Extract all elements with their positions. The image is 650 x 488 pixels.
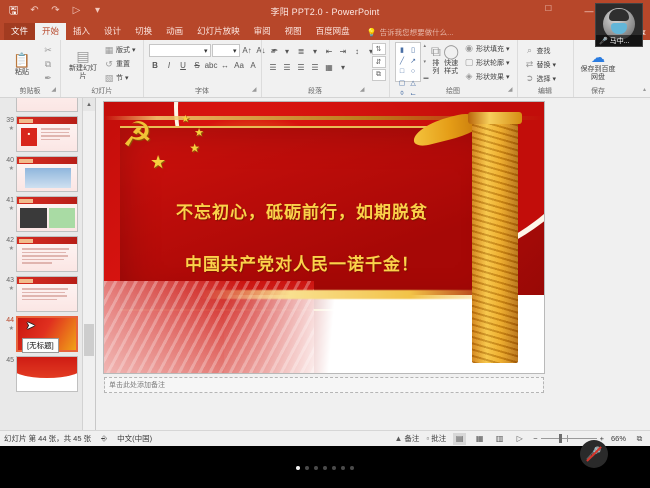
party-emblem-icon: ☭ ★ ★ ★ ★ xyxy=(122,112,218,178)
slide-subtitle-text[interactable]: 中国共产党对人民一诺千金！ xyxy=(144,250,460,275)
slide-counter: 幻灯片 第 44 张，共 45 张 xyxy=(4,433,91,444)
quick-access-toolbar: 🖫 ↶ ↷ ▷ ▾ xyxy=(0,4,105,19)
mouse-cursor-icon: ➤ xyxy=(26,319,35,332)
replace-icon: ⇄ xyxy=(525,59,535,70)
thumbnail-38[interactable] xyxy=(16,98,78,112)
zoom-out-button[interactable]: − xyxy=(533,434,537,443)
cut-button[interactable]: ✂ xyxy=(41,44,55,57)
hair-shape xyxy=(609,9,629,21)
star-icon: ★ xyxy=(194,126,204,139)
font-dialog-launcher[interactable]: ◢ xyxy=(252,85,257,96)
quick-styles-label: 快速样式 xyxy=(443,60,459,76)
font-name-input[interactable]: ▾ xyxy=(149,44,211,57)
layout-button[interactable]: ▦ 版式▾ xyxy=(102,44,138,57)
participant-name: 马中... xyxy=(610,36,630,46)
thumbnail-41[interactable] xyxy=(16,196,78,232)
bold-button[interactable]: B xyxy=(149,59,162,72)
slide-title-text[interactable]: 不忘初心，砥砺前行，如期脱贫 xyxy=(144,198,460,223)
tab-animations[interactable]: 动画 xyxy=(159,23,190,40)
thumbnail-40[interactable] xyxy=(16,156,78,192)
select-button[interactable]: ➲ 选择▾ xyxy=(523,72,559,85)
text-direction-button[interactable]: ⇅ xyxy=(372,43,386,55)
ribbon-tab-strip: 文件 开始 插入 设计 切换 动画 幻灯片放映 审阅 视图 百度网盘 💡 告诉我… xyxy=(0,22,650,40)
align-center-button[interactable]: ☰ xyxy=(281,61,294,74)
thumbnail-42[interactable] xyxy=(16,236,78,272)
page-dot-3[interactable] xyxy=(314,466,318,470)
collapse-ribbon-icon[interactable]: ▴ xyxy=(643,85,646,96)
scissors-icon: ✂ xyxy=(43,45,53,56)
page-dot-5[interactable] xyxy=(332,466,336,470)
page-dot-7[interactable] xyxy=(350,466,354,470)
slide-editing-pane[interactable]: ☭ ★ ★ ★ ★ 不忘初心，砥砺前行，如期脱贫 中国共产党对人民一诺千金！ 单… xyxy=(96,98,650,446)
thumbnail-tooltip: [无标题] xyxy=(22,338,59,353)
paintbrush-icon: ✒ xyxy=(43,73,53,84)
arrange-button[interactable]: ⧉ 排列 xyxy=(430,42,441,76)
section-button[interactable]: ▧ 节▾ xyxy=(102,72,138,85)
page-dot-1[interactable] xyxy=(296,466,300,470)
paste-label: 粘贴 xyxy=(15,69,29,77)
language-indicator[interactable]: 中文(中国) xyxy=(117,433,152,444)
tab-design[interactable]: 设计 xyxy=(97,23,128,40)
star-icon: ★ xyxy=(189,141,200,155)
page-dot-2[interactable] xyxy=(305,466,309,470)
line-spacing-button[interactable]: ↕ xyxy=(351,45,364,58)
microphone-icon: 🎤 xyxy=(599,37,608,45)
align-left-button[interactable]: ☰ xyxy=(267,61,280,74)
baidu-cloud-icon: ☁ xyxy=(591,50,605,65)
huabiao-pillar-image xyxy=(472,120,518,363)
ribbon-group-editing: ⌕ 查找 ⇄ 替换▾ ➲ 选择▾ 编辑 xyxy=(517,40,573,97)
fit-to-window-button[interactable]: ⧉ xyxy=(633,433,646,445)
lightbulb-icon: 💡 xyxy=(367,28,377,37)
thumbnail-list: 38★ 39★ ■ xyxy=(0,98,82,394)
find-button[interactable]: ⌕ 查找 xyxy=(523,44,559,57)
comment-icon: ▫ xyxy=(426,434,429,443)
face-mask-shape xyxy=(611,23,627,34)
list-item[interactable]: 40★ xyxy=(0,154,82,194)
tab-insert[interactable]: 插入 xyxy=(66,23,97,40)
list-item-selected[interactable]: 44★ ➤ [无标题] xyxy=(0,314,82,354)
start-slideshow-icon[interactable]: ▷ xyxy=(69,4,84,19)
list-item[interactable]: 38★ xyxy=(0,98,82,114)
group-label-drawing: 绘图◢ xyxy=(393,86,514,97)
scrollbar-thumb[interactable] xyxy=(84,324,94,356)
cursor-select-icon: ➲ xyxy=(525,73,535,84)
decrease-indent-button[interactable]: ⇤ xyxy=(323,45,336,58)
page-indicator[interactable] xyxy=(0,466,650,470)
shape-effects-button[interactable]: ◈ 形状效果▾ xyxy=(462,70,512,83)
animation-star-icon: ★ xyxy=(2,285,14,294)
mute-microphone-button[interactable]: 🎤 xyxy=(580,440,608,468)
search-icon: ⌕ xyxy=(525,45,535,56)
animation-star-icon: ★ xyxy=(2,245,14,254)
zoom-knob[interactable] xyxy=(559,434,562,443)
arrange-icon: ⧉ xyxy=(431,44,441,59)
thumbnail-43[interactable] xyxy=(16,276,78,312)
paragraph-dialog-launcher[interactable]: ◢ xyxy=(360,85,365,96)
new-slide-icon: ▤ xyxy=(76,49,89,64)
tab-slideshow[interactable]: 幻灯片放映 xyxy=(190,23,247,40)
zoom-track[interactable] xyxy=(541,438,597,439)
reading-view-button[interactable]: ▥ xyxy=(493,433,506,445)
format-painter-button[interactable]: ✒ xyxy=(41,72,55,85)
font-size-input[interactable]: ▾ xyxy=(212,44,240,57)
quick-styles-button[interactable]: ◯ 快速样式 xyxy=(443,42,459,76)
shape-fill-button[interactable]: ◉ 形状填充▾ xyxy=(462,42,512,55)
notes-placeholder[interactable]: 单击此处添加备注 xyxy=(104,377,544,393)
bullet-list-dropdown-icon[interactable]: ▾ xyxy=(281,45,294,58)
align-text-button[interactable]: ⇵ xyxy=(372,56,386,68)
increase-font-size-icon[interactable]: A↑ xyxy=(241,44,254,57)
arrange-label: 排列 xyxy=(430,60,441,76)
participant-video-thumbnail[interactable]: 🎤 马中... xyxy=(595,3,643,47)
shape-recent-2-icon[interactable]: ▯ xyxy=(408,44,419,55)
ribbon-group-clipboard: 📋 粘贴 ✂ ⧉ ✒ 剪贴板◢ xyxy=(0,40,60,97)
hammer-sickle-icon: ☭ xyxy=(122,118,152,152)
participant-label: 🎤 马中... xyxy=(596,35,642,46)
numbered-list-dropdown-icon[interactable]: ▾ xyxy=(309,45,322,58)
slide-sorter-button[interactable]: ▦ xyxy=(473,433,486,445)
shape-oval-icon[interactable]: ○ xyxy=(408,66,419,77)
shapes-gallery-scroll[interactable]: ▴ ▾ ▬ xyxy=(423,42,428,82)
columns-dropdown-icon[interactable]: ▾ xyxy=(337,61,350,74)
normal-view-button[interactable]: ▤ xyxy=(453,433,466,445)
replace-button[interactable]: ⇄ 替换▾ xyxy=(523,58,559,71)
outline-pen-icon: ▢ xyxy=(464,57,474,68)
change-case-button[interactable]: Aa xyxy=(233,59,246,72)
slide-thumbnail-pane[interactable]: 38★ 39★ ■ xyxy=(0,98,96,446)
thumbnail-39[interactable]: ■ xyxy=(16,116,78,152)
chevron-down-icon: ▾ xyxy=(233,47,237,55)
group-label-paragraph: 段落◢ xyxy=(265,86,366,97)
list-item[interactable]: 41★ xyxy=(0,194,82,234)
slideshow-button[interactable]: ▷ xyxy=(513,433,526,445)
tab-transitions[interactable]: 切换 xyxy=(128,23,159,40)
screen-root: 🖫 ↶ ↷ ▷ ▾ 李阳 PPT2.0 - PowerPoint ☐ — ◻ ✕… xyxy=(0,0,650,488)
group-label-font: 字体◢ xyxy=(147,86,258,97)
new-slide-button[interactable]: ▤ 新建幻灯片 xyxy=(66,47,100,81)
shape-line-icon[interactable]: ╱ xyxy=(397,55,408,66)
chevron-down-icon: ▾ xyxy=(204,47,208,55)
text-shadow-button[interactable]: abc xyxy=(205,59,218,72)
powerpoint-window: 🖫 ↶ ↷ ▷ ▾ 李阳 PPT2.0 - PowerPoint ☐ — ◻ ✕… xyxy=(0,0,650,446)
align-right-button[interactable]: ☰ xyxy=(295,61,308,74)
ribbon-group-save: ☁ 保存到百度网盘 保存 xyxy=(573,40,623,97)
list-item[interactable]: 43★ xyxy=(0,274,82,314)
ribbon-group-slides: ▤ 新建幻灯片 ▦ 版式▾ ↺ 重置 ▧ xyxy=(60,40,143,97)
italic-button[interactable]: I xyxy=(163,59,176,72)
customize-qat-icon[interactable]: ▾ xyxy=(90,4,105,19)
effects-icon: ◈ xyxy=(464,71,474,82)
save-to-baidu-label: 保存到百度网盘 xyxy=(579,66,618,82)
columns-button[interactable]: ▦ xyxy=(323,61,336,74)
copy-button[interactable]: ⧉ xyxy=(41,58,55,71)
drawing-dialog-launcher[interactable]: ◢ xyxy=(508,85,513,96)
tell-me-placeholder: 告诉我您想要做什么... xyxy=(380,27,454,38)
tab-file[interactable]: 文件 xyxy=(4,23,35,40)
shape-recent-1-icon[interactable]: ▮ xyxy=(397,44,408,55)
work-area: 38★ 39★ ■ xyxy=(0,98,650,446)
tell-me-search[interactable]: 💡 告诉我您想要做什么... xyxy=(367,27,454,40)
section-icon: ▧ xyxy=(104,73,114,84)
comments-button[interactable]: ▫ 批注 xyxy=(426,433,446,444)
chevron-down-icon[interactable]: ▾ xyxy=(423,58,428,66)
zoom-level-label[interactable]: 66% xyxy=(611,434,626,443)
title-bar: 🖫 ↶ ↷ ▷ ▾ 李阳 PPT2.0 - PowerPoint ☐ — ◻ ✕ xyxy=(0,0,650,22)
fill-bucket-icon: ◉ xyxy=(464,43,474,54)
shapes-gallery[interactable]: ▮ ▯ ╱ ↗ □ ○ ▢ △ ⌽ ⌙ ⇒ ⇓ ⬠ ▦ ⌒ xyxy=(395,42,422,82)
paste-button[interactable]: 📋 粘贴 xyxy=(5,51,39,77)
slide-canvas[interactable]: ☭ ★ ★ ★ ★ 不忘初心，砥砺前行，如期脱贫 中国共产党对人民一诺千金！ xyxy=(104,102,544,373)
ribbon: 📋 粘贴 ✂ ⧉ ✒ 剪贴板◢ ▤ xyxy=(0,40,650,98)
star-icon: ★ xyxy=(150,152,166,173)
justify-button[interactable]: ☰ xyxy=(309,61,322,74)
ribbon-group-drawing: ▮ ▯ ╱ ↗ □ ○ ▢ △ ⌽ ⌙ ⇒ ⇓ ⬠ ▦ ⌒ xyxy=(389,40,517,97)
group-label-slides: 幻灯片 xyxy=(64,86,140,97)
group-label-clipboard: 剪贴板◢ xyxy=(3,86,57,97)
character-spacing-button[interactable]: ↔ xyxy=(219,59,232,72)
star-icon: ★ xyxy=(181,114,190,125)
group-label-save: 保存 xyxy=(577,86,620,97)
animation-star-icon: ★ xyxy=(2,165,14,174)
reset-button[interactable]: ↺ 重置 xyxy=(102,58,138,71)
chevron-up-icon[interactable]: ▴ xyxy=(423,42,428,50)
thumbnail-45[interactable] xyxy=(16,356,78,392)
tab-baidu-netdisk[interactable]: 百度网盘 xyxy=(309,23,357,40)
bullet-list-button[interactable]: ≡ xyxy=(267,45,280,58)
shape-outline-button[interactable]: ▢ 形状轮廓▾ xyxy=(462,56,512,69)
clipboard-dialog-launcher[interactable]: ◢ xyxy=(51,85,56,96)
font-color-button[interactable]: A xyxy=(247,59,260,72)
layout-icon: ▦ xyxy=(104,45,114,56)
quick-styles-icon: ◯ xyxy=(443,44,459,59)
page-dot-4[interactable] xyxy=(323,466,327,470)
ribbon-display-options-icon[interactable]: ☐ xyxy=(545,4,552,13)
tab-view[interactable]: 视图 xyxy=(278,23,309,40)
reset-icon: ↺ xyxy=(104,59,114,70)
list-item[interactable]: 45 xyxy=(0,354,82,394)
copy-icon: ⧉ xyxy=(43,59,53,70)
save-icon[interactable]: 🖫 xyxy=(6,4,21,19)
shape-arrow-icon[interactable]: ↗ xyxy=(408,55,419,66)
thumbnail-scrollbar[interactable]: ▲ ▼ xyxy=(82,98,95,446)
tab-review[interactable]: 审阅 xyxy=(247,23,278,40)
status-bar: 幻灯片 第 44 张，共 45 张 ⎆ 中文(中国) ▲ 备注 ▫ 批注 ▤ ▦… xyxy=(0,430,650,446)
ribbon-group-paragraph-extra: ⇅ ⇵ ⧉ xyxy=(369,40,389,97)
new-slide-label: 新建幻灯片 xyxy=(66,65,100,81)
shape-rect-icon[interactable]: □ xyxy=(397,66,408,77)
redo-icon[interactable]: ↷ xyxy=(48,4,63,19)
strikethrough-button[interactable]: S xyxy=(191,59,204,72)
underline-button[interactable]: U xyxy=(177,59,190,72)
convert-to-smartart-button[interactable]: ⧉ xyxy=(372,69,386,81)
list-item[interactable]: 42★ xyxy=(0,234,82,274)
animation-star-icon: ★ xyxy=(2,205,14,214)
animation-star-icon: ★ xyxy=(2,125,14,134)
save-to-baidu-netdisk-button[interactable]: ☁ 保存到百度网盘 xyxy=(579,48,618,82)
ribbon-group-paragraph: ≡ ▾ ≣ ▾ ⇤ ⇥ ↕ ▾ ☰ ☰ ☰ ☰ ▦ xyxy=(261,40,369,97)
numbered-list-button[interactable]: ≣ xyxy=(295,45,308,58)
paste-icon: 📋 xyxy=(13,53,30,68)
tab-home[interactable]: 开始 xyxy=(35,23,66,40)
spellcheck-icon[interactable]: ⎆ xyxy=(101,434,107,444)
scroll-up-icon[interactable]: ▲ xyxy=(83,98,95,111)
increase-indent-button[interactable]: ⇥ xyxy=(337,45,350,58)
ribbon-group-font: ▾ ▾ A↑ A↓ ✒ B I U S abc xyxy=(143,40,261,97)
list-item[interactable]: 39★ ■ xyxy=(0,114,82,154)
gold-light-beam xyxy=(200,290,500,299)
notes-button[interactable]: ▲ 备注 xyxy=(394,433,419,444)
group-label-editing: 编辑 xyxy=(521,86,570,97)
more-shapes-icon[interactable]: ▬ xyxy=(423,74,428,82)
notes-icon: ▲ xyxy=(394,434,402,443)
page-dot-6[interactable] xyxy=(341,466,345,470)
undo-icon[interactable]: ↶ xyxy=(27,4,42,19)
animation-star-icon: ★ xyxy=(2,325,14,334)
